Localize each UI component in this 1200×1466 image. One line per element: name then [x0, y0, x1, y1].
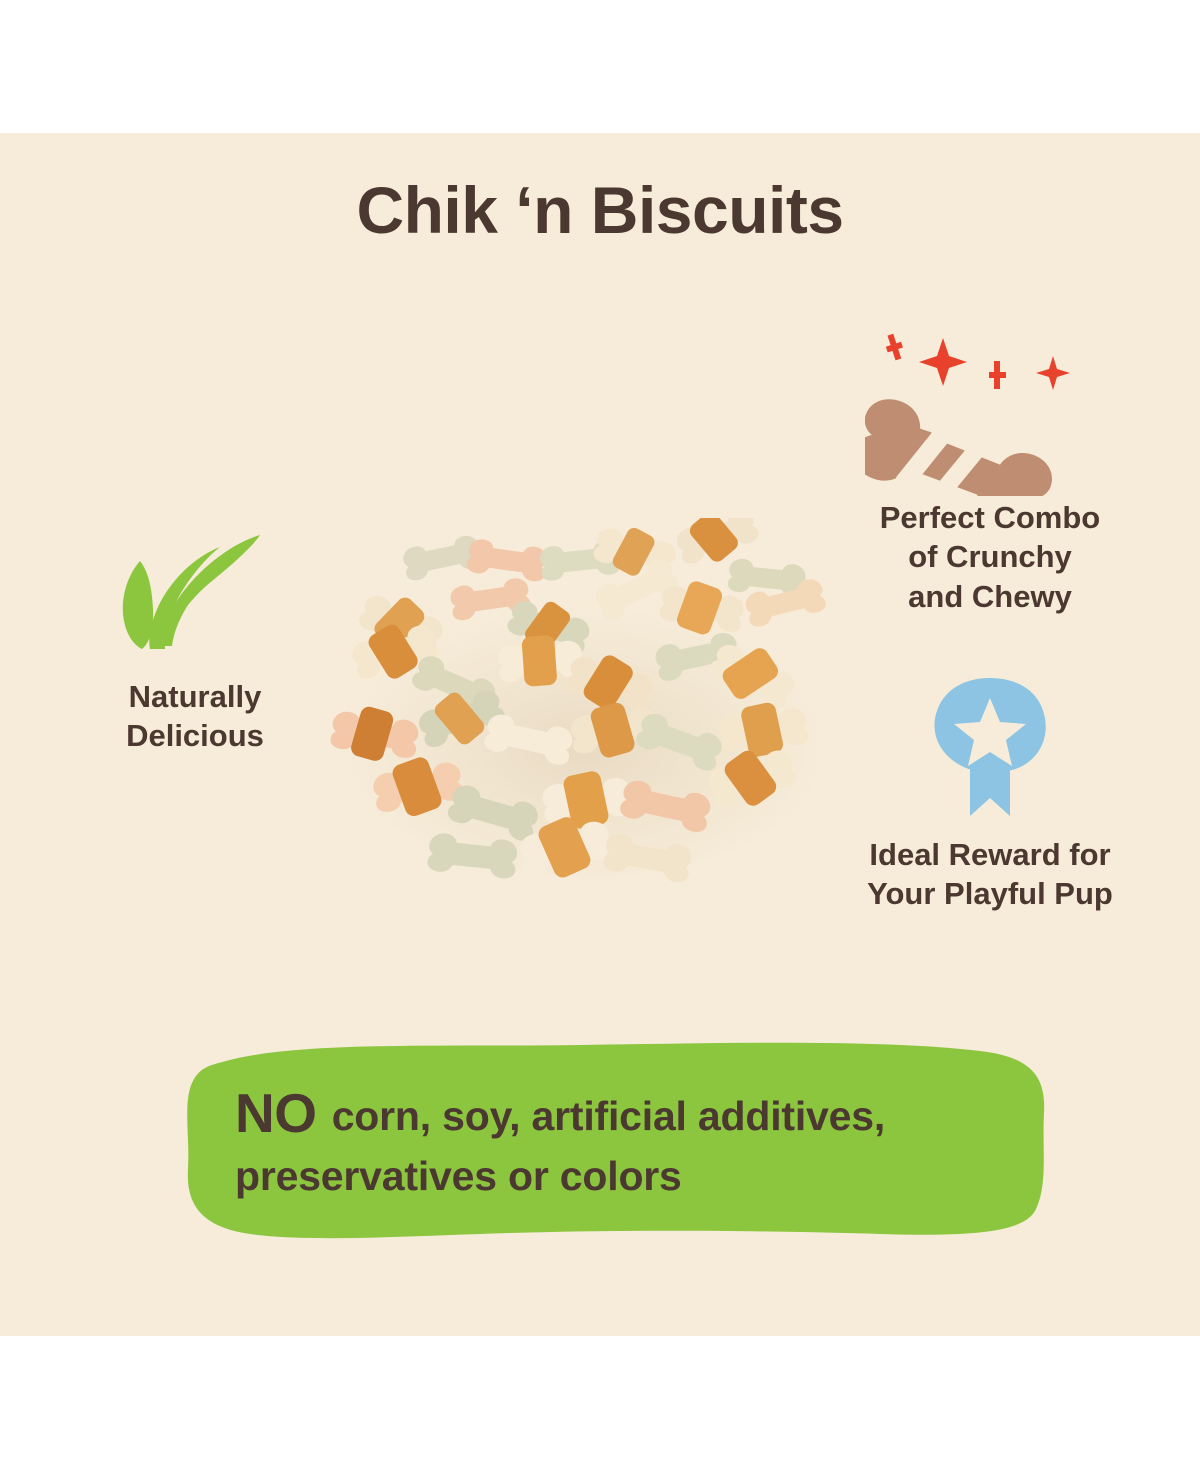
feature-ideal-reward: Ideal Reward for Your Playful Pup — [790, 666, 1190, 914]
caption-line: Ideal Reward for — [869, 837, 1110, 872]
sparkle-group — [883, 332, 1070, 390]
leaf-icon — [60, 533, 330, 653]
feature-caption: Ideal Reward for Your Playful Pup — [790, 835, 1190, 914]
feature-caption: Naturally Delicious — [60, 677, 330, 755]
product-photo — [300, 518, 870, 918]
banner-emphasis: NO — [235, 1082, 321, 1144]
feature-naturally-delicious: Naturally Delicious — [60, 533, 330, 755]
caption-line: Delicious — [126, 718, 264, 753]
caption-line: and Chewy — [908, 579, 1072, 614]
banner-text: NO corn, soy, artificial additives, pres… — [235, 1078, 1035, 1203]
caption-line: Perfect Combo — [880, 500, 1100, 535]
award-ribbon-icon — [790, 666, 1190, 831]
banner-line-1: corn, soy, artificial additives, — [321, 1093, 886, 1139]
feature-perfect-combo: Perfect Combo of Crunchy and Chewy — [790, 313, 1190, 616]
cream-stage: Chik ‘n Biscuits — [0, 133, 1200, 1336]
caption-line: of Crunchy — [908, 539, 1072, 574]
caption-line: Your Playful Pup — [867, 876, 1113, 911]
bone-icon — [790, 313, 1190, 498]
feature-caption: Perfect Combo of Crunchy and Chewy — [790, 498, 1190, 616]
no-ingredients-banner: NO corn, soy, artificial additives, pres… — [180, 1033, 1050, 1248]
caption-line: Naturally — [129, 679, 262, 714]
page-title: Chik ‘n Biscuits — [0, 177, 1200, 243]
banner-line-2: preservatives or colors — [235, 1153, 682, 1199]
infographic-canvas: Chik ‘n Biscuits — [0, 0, 1200, 1466]
